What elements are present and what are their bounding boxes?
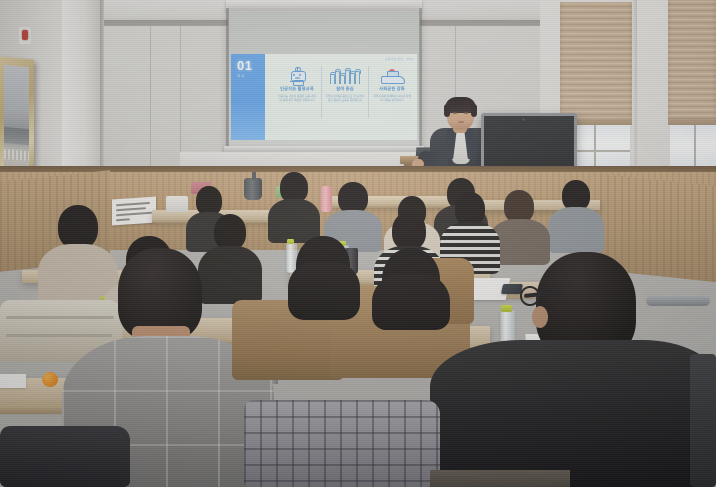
wall-panel-seam: [150, 26, 151, 176]
dark-jacket-on-chair: [0, 426, 130, 487]
slide-column-1: 인공지능 활용교육 인공지능 기술을 활용한 교육 과정을 통해 실무 역량을 …: [274, 64, 320, 103]
seminar-room-photo: 01 개 요 교육과정 안내 · 2024 인공지능 활용교육 인공지능 기술을…: [0, 0, 716, 487]
monitor-camera-icon: [521, 117, 526, 122]
window-blind-left[interactable]: [560, 2, 632, 122]
chair-back: [690, 354, 716, 487]
hair: [372, 274, 450, 330]
slide-column-title: 인공지능 활용교육: [274, 86, 320, 92]
painting-detail: [4, 149, 29, 161]
slide-header-note: 교육과정 안내 · 2024: [360, 57, 414, 61]
screen-edge: [226, 8, 229, 152]
paper-sheet: [0, 374, 26, 388]
screen-edge: [419, 8, 422, 152]
robot-icon: [274, 64, 320, 84]
fire-alarm-icon: [22, 30, 28, 40]
kettle-handle: [252, 172, 256, 180]
slide-number: 01: [237, 58, 267, 73]
slide-number-subtitle: 개 요: [237, 74, 265, 78]
glasses-lens: [520, 286, 540, 306]
slide-column-body: 인공지능 기술을 활용한 교육 과정을 통해 실무 역량을 강화합니다: [274, 95, 320, 103]
pink-bottle: [321, 186, 332, 212]
floor: [430, 470, 570, 487]
slide-column-title: 사회공헌 강화: [369, 86, 415, 92]
chair-rail: [646, 296, 710, 306]
orange-fruit: [42, 372, 58, 387]
slide-column-2: 참여 중심 학습자 참여를 중심으로 한 토의와 실습 중심의 교육을 운영합니…: [322, 64, 368, 103]
slide-column-3: 사회공헌 강화 지역 사회와 함께하는 나눔과 상생의 가치를 실천합니다: [369, 64, 415, 103]
raised-hands-icon: [322, 64, 368, 84]
posted-notice: [112, 196, 156, 225]
slide-column-body: 학습자 참여를 중심으로 한 토의와 실습 중심의 교육을 운영합니다: [322, 95, 368, 103]
ear: [532, 306, 548, 328]
slide-column-body: 지역 사회와 함께하는 나눔과 상생의 가치를 실천합니다: [369, 95, 415, 103]
bottle-cap-icon: [501, 305, 512, 312]
coat-seam: [6, 334, 112, 337]
window-blind-right[interactable]: [668, 0, 716, 122]
window-pier: [632, 0, 637, 180]
hair: [288, 262, 360, 320]
electric-kettle: [244, 178, 262, 200]
coat-seam: [6, 316, 114, 319]
bottle-cap-icon: [287, 239, 295, 244]
slide-column-title: 참여 중심: [322, 86, 368, 92]
gift-hand-icon: [369, 64, 415, 84]
plaid-jacket-on-chair: [244, 400, 440, 487]
painting-canvas: [4, 65, 29, 179]
painting-detail: [4, 127, 29, 145]
paper-stack: [166, 196, 188, 212]
